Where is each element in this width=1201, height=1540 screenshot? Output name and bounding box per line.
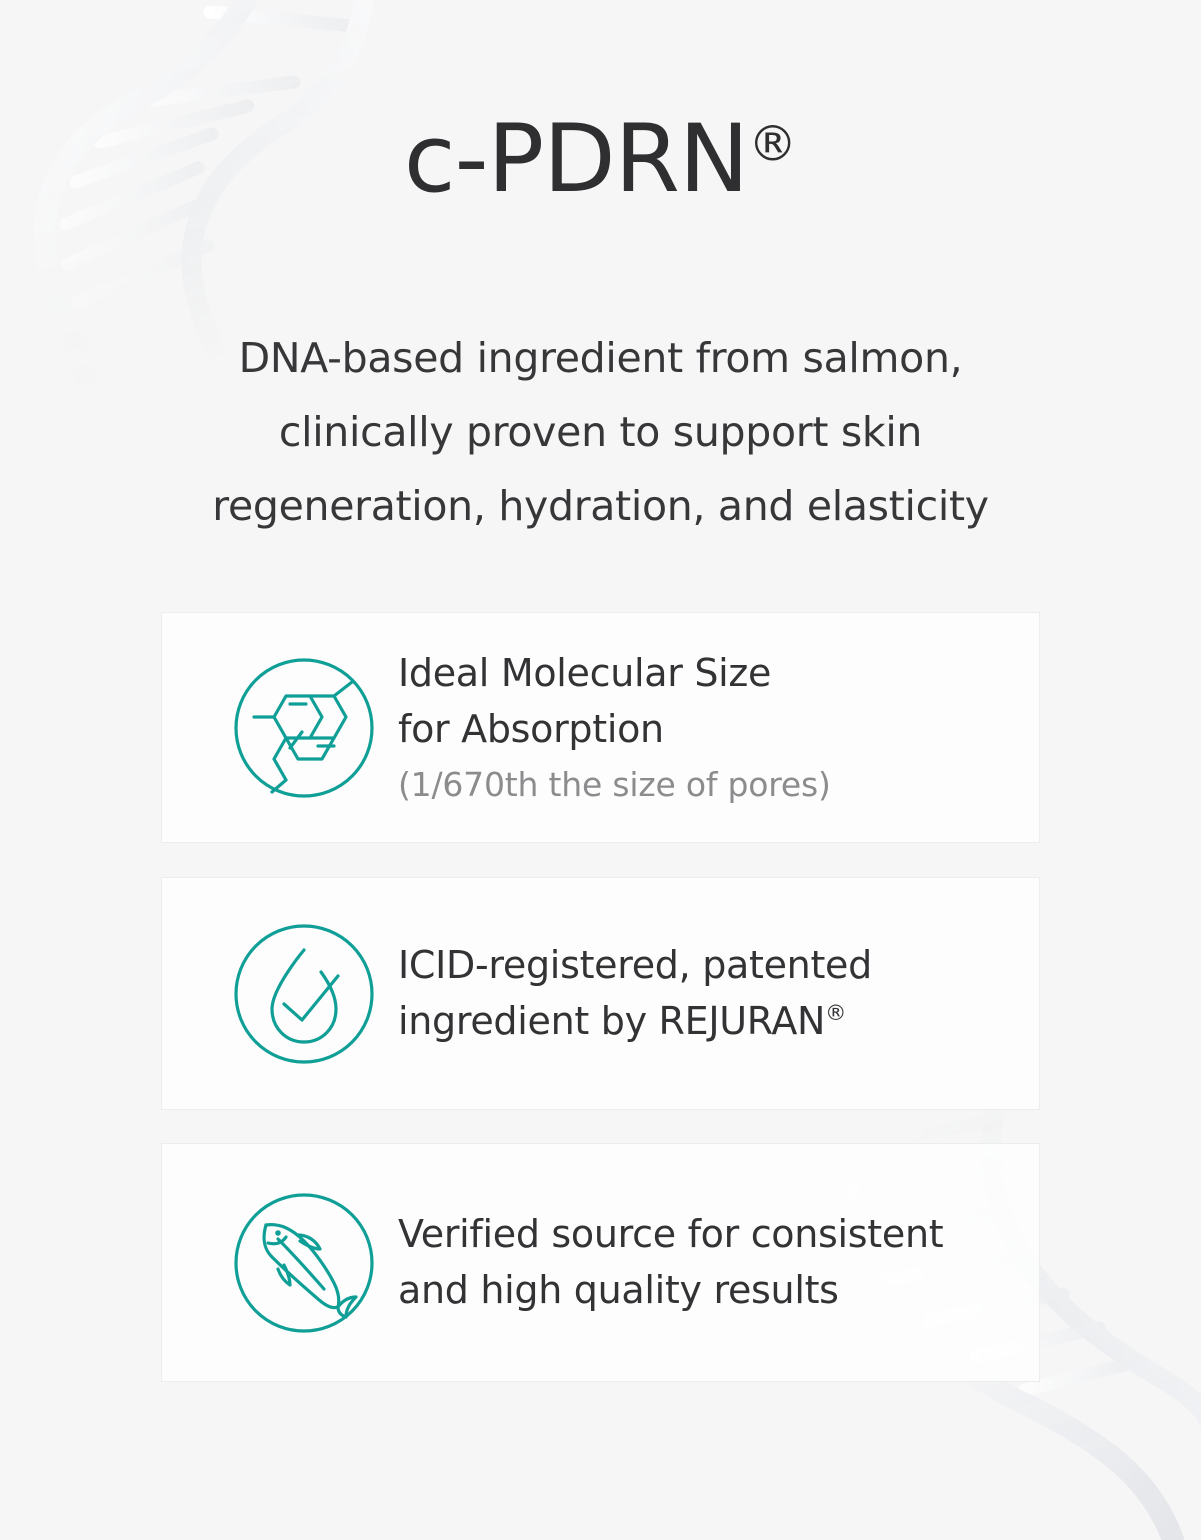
- feature-line-1: Ideal Molecular Size: [398, 646, 831, 702]
- feature-subtext: (1/670th the size of pores): [398, 762, 831, 809]
- subtitle-line-3: regeneration, hydration, and elasticity: [100, 470, 1101, 544]
- fish-icon: [224, 1187, 384, 1339]
- page-root: c-PDRN® DNA-based ingredient from salmon…: [0, 0, 1201, 1500]
- feature-card-verified-source: Verified source for consistent and high …: [161, 1143, 1040, 1382]
- feature-line-2: and high quality results: [398, 1263, 943, 1319]
- feature-line-2: ingredient by REJURAN®: [398, 994, 872, 1050]
- molecule-icon: [224, 652, 384, 804]
- water-drop-check-icon: [224, 918, 384, 1070]
- page-title-text: c-PDRN: [404, 105, 748, 214]
- feature-line-1: ICID-registered, patented: [398, 938, 872, 994]
- feature-line-2: for Absorption: [398, 702, 831, 758]
- page-title: c-PDRN®: [0, 108, 1201, 211]
- feature-card-text: Ideal Molecular Size for Absorption (1/6…: [398, 646, 855, 810]
- registered-trademark-icon: ®: [748, 116, 797, 173]
- page-subtitle: DNA-based ingredient from salmon, clinic…: [100, 322, 1101, 543]
- feature-line-1: Verified source for consistent: [398, 1207, 943, 1263]
- feature-card-text: Verified source for consistent and high …: [398, 1207, 967, 1319]
- feature-card-molecular-size: Ideal Molecular Size for Absorption (1/6…: [161, 612, 1040, 843]
- feature-card-icid-registered: ICID-registered, patented ingredient by …: [161, 877, 1040, 1110]
- registered-trademark-icon: ®: [825, 1000, 846, 1025]
- subtitle-line-2: clinically proven to support skin: [100, 396, 1101, 470]
- feature-line-2-text: ingredient by REJURAN: [398, 999, 825, 1043]
- subtitle-line-1: DNA-based ingredient from salmon,: [100, 322, 1101, 396]
- feature-card-text: ICID-registered, patented ingredient by …: [398, 938, 896, 1050]
